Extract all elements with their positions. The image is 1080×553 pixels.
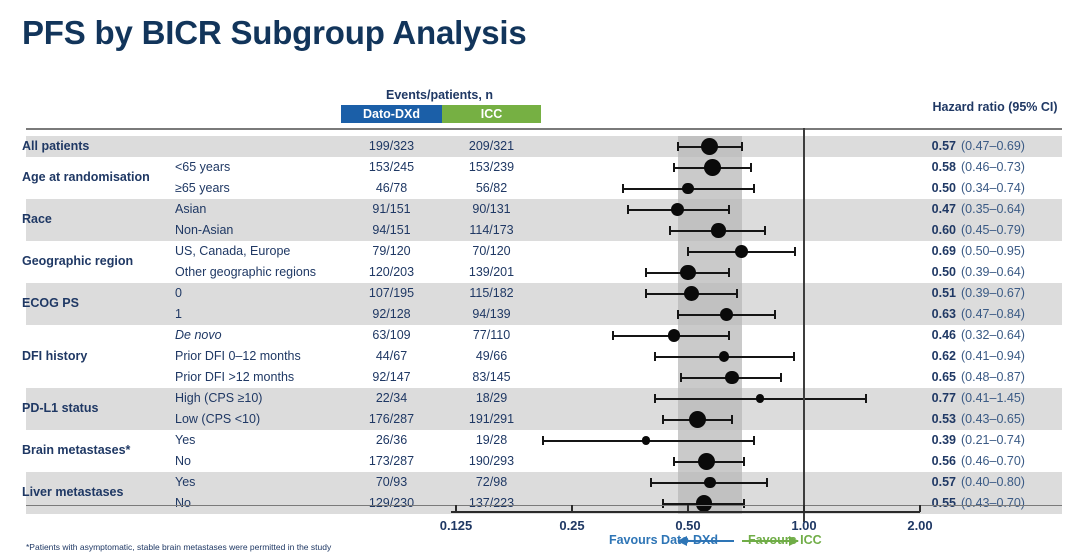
ci-cap-lower xyxy=(662,499,664,508)
x-axis-tick xyxy=(455,505,457,512)
ci-cap-upper xyxy=(794,247,796,256)
ci-cap-upper xyxy=(750,163,752,172)
x-axis-tick xyxy=(803,505,805,512)
ci-cap-upper xyxy=(764,226,766,235)
forest-plot xyxy=(0,0,1080,553)
null-reference-line xyxy=(803,128,805,522)
hazard-ratio-marker xyxy=(711,223,725,237)
hazard-ratio-marker xyxy=(642,436,650,444)
ci-cap-upper xyxy=(743,457,745,466)
ci-cap-upper xyxy=(753,436,755,445)
ci-cap-upper xyxy=(736,289,738,298)
ci-cap-lower xyxy=(673,163,675,172)
ci-cap-upper xyxy=(865,394,867,403)
bottom-rule xyxy=(26,505,1062,506)
ci-cap-upper xyxy=(753,184,755,193)
x-axis-tick-label: 0.50 xyxy=(648,518,728,533)
hazard-ratio-marker xyxy=(682,183,693,194)
ci-cap-lower xyxy=(645,289,647,298)
hazard-ratio-marker xyxy=(704,477,716,489)
ci-cap-lower xyxy=(622,184,624,193)
ci-cap-lower xyxy=(662,415,664,424)
hazard-ratio-marker xyxy=(719,351,729,361)
hazard-ratio-marker xyxy=(680,265,696,281)
ci-cap-lower xyxy=(654,394,656,403)
x-axis-tick-label: 0.125 xyxy=(416,518,496,533)
ci-cap-lower xyxy=(627,205,629,214)
x-axis-tick-label: 0.25 xyxy=(532,518,612,533)
ci-cap-upper xyxy=(766,478,768,487)
ci-cap-lower xyxy=(677,142,679,151)
ci-cap-lower xyxy=(645,268,647,277)
ci-cap-lower xyxy=(673,457,675,466)
ci-cap-upper xyxy=(728,205,730,214)
ci-cap-lower xyxy=(654,352,656,361)
ci-cap-lower xyxy=(669,226,671,235)
x-axis-tick xyxy=(919,505,921,512)
x-axis-tick-label: 1.00 xyxy=(764,518,844,533)
hazard-ratio-marker xyxy=(684,286,699,301)
hazard-ratio-marker xyxy=(668,329,680,341)
ci-cap-upper xyxy=(743,499,745,508)
ci-cap-upper xyxy=(741,142,743,151)
ci-cap-upper xyxy=(774,310,776,319)
ci-cap-lower xyxy=(650,478,652,487)
ci-cap-upper xyxy=(780,373,782,382)
ci-cap-lower xyxy=(542,436,544,445)
ci-cap-lower xyxy=(677,310,679,319)
ci-cap-lower xyxy=(687,247,689,256)
favours-icc-label: Favours ICC xyxy=(748,533,822,547)
hazard-ratio-marker xyxy=(735,245,748,258)
hazard-ratio-marker xyxy=(756,394,764,402)
x-axis-tick xyxy=(571,505,573,512)
x-axis-tick-label: 2.00 xyxy=(880,518,960,533)
ci-cap-upper xyxy=(793,352,795,361)
hazard-ratio-marker xyxy=(725,371,739,385)
hazard-ratio-marker xyxy=(696,495,712,511)
x-axis-line xyxy=(451,511,920,513)
ci-cap-lower xyxy=(612,331,614,340)
favours-legend: Favours Dato-DXd Favours ICC xyxy=(530,533,950,551)
ci-cap-lower xyxy=(680,373,682,382)
ci-cap-upper xyxy=(728,268,730,277)
x-axis-tick xyxy=(687,505,689,512)
footnote: *Patients with asymptomatic, stable brai… xyxy=(26,542,331,552)
ci-cap-upper xyxy=(731,415,733,424)
ci-cap-upper xyxy=(728,331,730,340)
favours-dato-arrow-icon xyxy=(678,540,734,542)
